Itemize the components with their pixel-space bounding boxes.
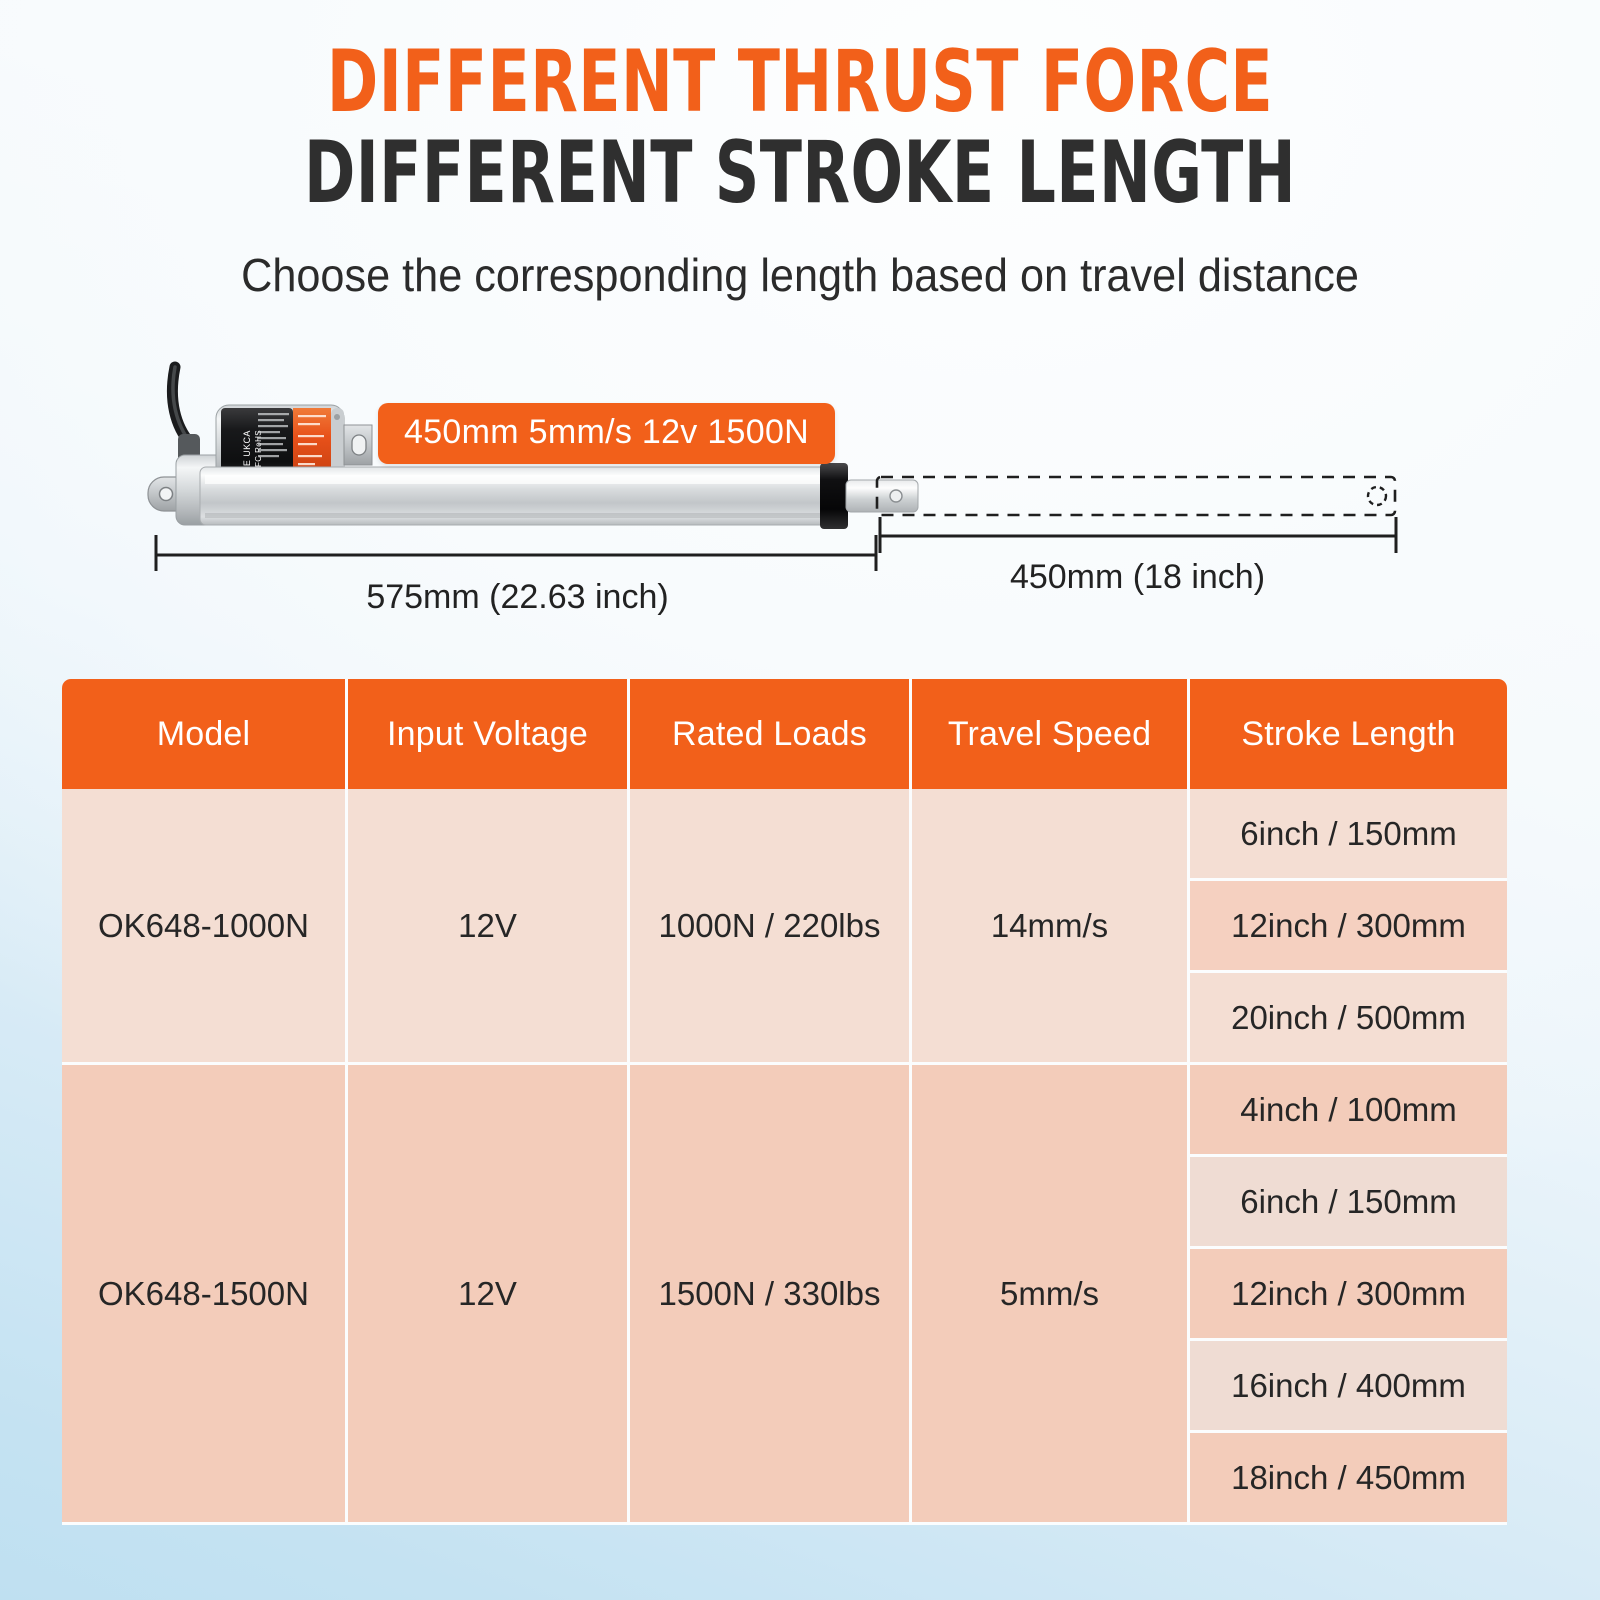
cell-model: OK648-1500N <box>62 1065 348 1525</box>
infographic-page: DIFFERENT THRUST FORCE DIFFERENT STROKE … <box>0 0 1600 1600</box>
table-row: OK648-1500N 12V 1500N / 330lbs 5mm/s 4in… <box>62 1065 1507 1157</box>
svg-text:FC RoHS: FC RoHS <box>254 430 263 467</box>
hero-title-line-2: DIFFERENT STROKE LENGTH <box>160 129 1440 218</box>
dimension-label-stroke: 450mm (18 inch) <box>880 558 1395 597</box>
cell-stroke-length: 20inch / 500mm <box>1190 973 1507 1065</box>
cell-stroke-length: 6inch / 150mm <box>1190 789 1507 881</box>
cell-stroke-length: 18inch / 450mm <box>1190 1433 1507 1525</box>
cell-input-voltage: 12V <box>348 789 630 1065</box>
dimension-label-retracted: 575mm (22.63 inch) <box>155 578 880 617</box>
table-row: OK648-1000N 12V 1000N / 220lbs 14mm/s 6i… <box>62 789 1507 881</box>
cell-travel-speed: 14mm/s <box>912 789 1190 1065</box>
cell-model: OK648-1000N <box>62 789 348 1065</box>
dimension-line-retracted <box>156 535 876 571</box>
cell-stroke-length: 12inch / 300mm <box>1190 1249 1507 1341</box>
column-header-rated-loads: Rated Loads <box>630 679 912 789</box>
table-header-row: Model Input Voltage Rated Loads Travel S… <box>62 679 1507 789</box>
spec-badge: 450mm 5mm/s 12v 1500N <box>378 403 835 464</box>
cell-travel-speed: 5mm/s <box>912 1065 1190 1525</box>
cell-stroke-length: 16inch / 400mm <box>1190 1341 1507 1433</box>
column-header-model: Model <box>62 679 348 789</box>
dimension-line-stroke <box>880 517 1396 553</box>
cell-stroke-length: 6inch / 150mm <box>1190 1157 1507 1249</box>
hero-subtitle: Choose the corresponding length based on… <box>48 248 1552 302</box>
hero-title-line-1: DIFFERENT THRUST FORCE <box>160 38 1440 127</box>
actuator-tube <box>200 467 840 525</box>
cell-rated-loads: 1000N / 220lbs <box>630 789 912 1065</box>
column-header-stroke-length: Stroke Length <box>1190 679 1507 789</box>
specifications-table: Model Input Voltage Rated Loads Travel S… <box>62 679 1507 1525</box>
cell-stroke-length: 4inch / 100mm <box>1190 1065 1507 1157</box>
cell-input-voltage: 12V <box>348 1065 630 1525</box>
cell-stroke-length: 12inch / 300mm <box>1190 881 1507 973</box>
column-header-travel-speed: Travel Speed <box>912 679 1190 789</box>
extended-stroke-outline <box>877 477 1395 515</box>
tube-end-collar <box>820 463 848 529</box>
cell-rated-loads: 1500N / 330lbs <box>630 1065 912 1525</box>
motor-side-bracket <box>344 425 372 465</box>
column-header-input-voltage: Input Voltage <box>348 679 630 789</box>
extension-rod <box>846 480 918 512</box>
hero-heading-block: DIFFERENT THRUST FORCE DIFFERENT STROKE … <box>0 38 1600 219</box>
